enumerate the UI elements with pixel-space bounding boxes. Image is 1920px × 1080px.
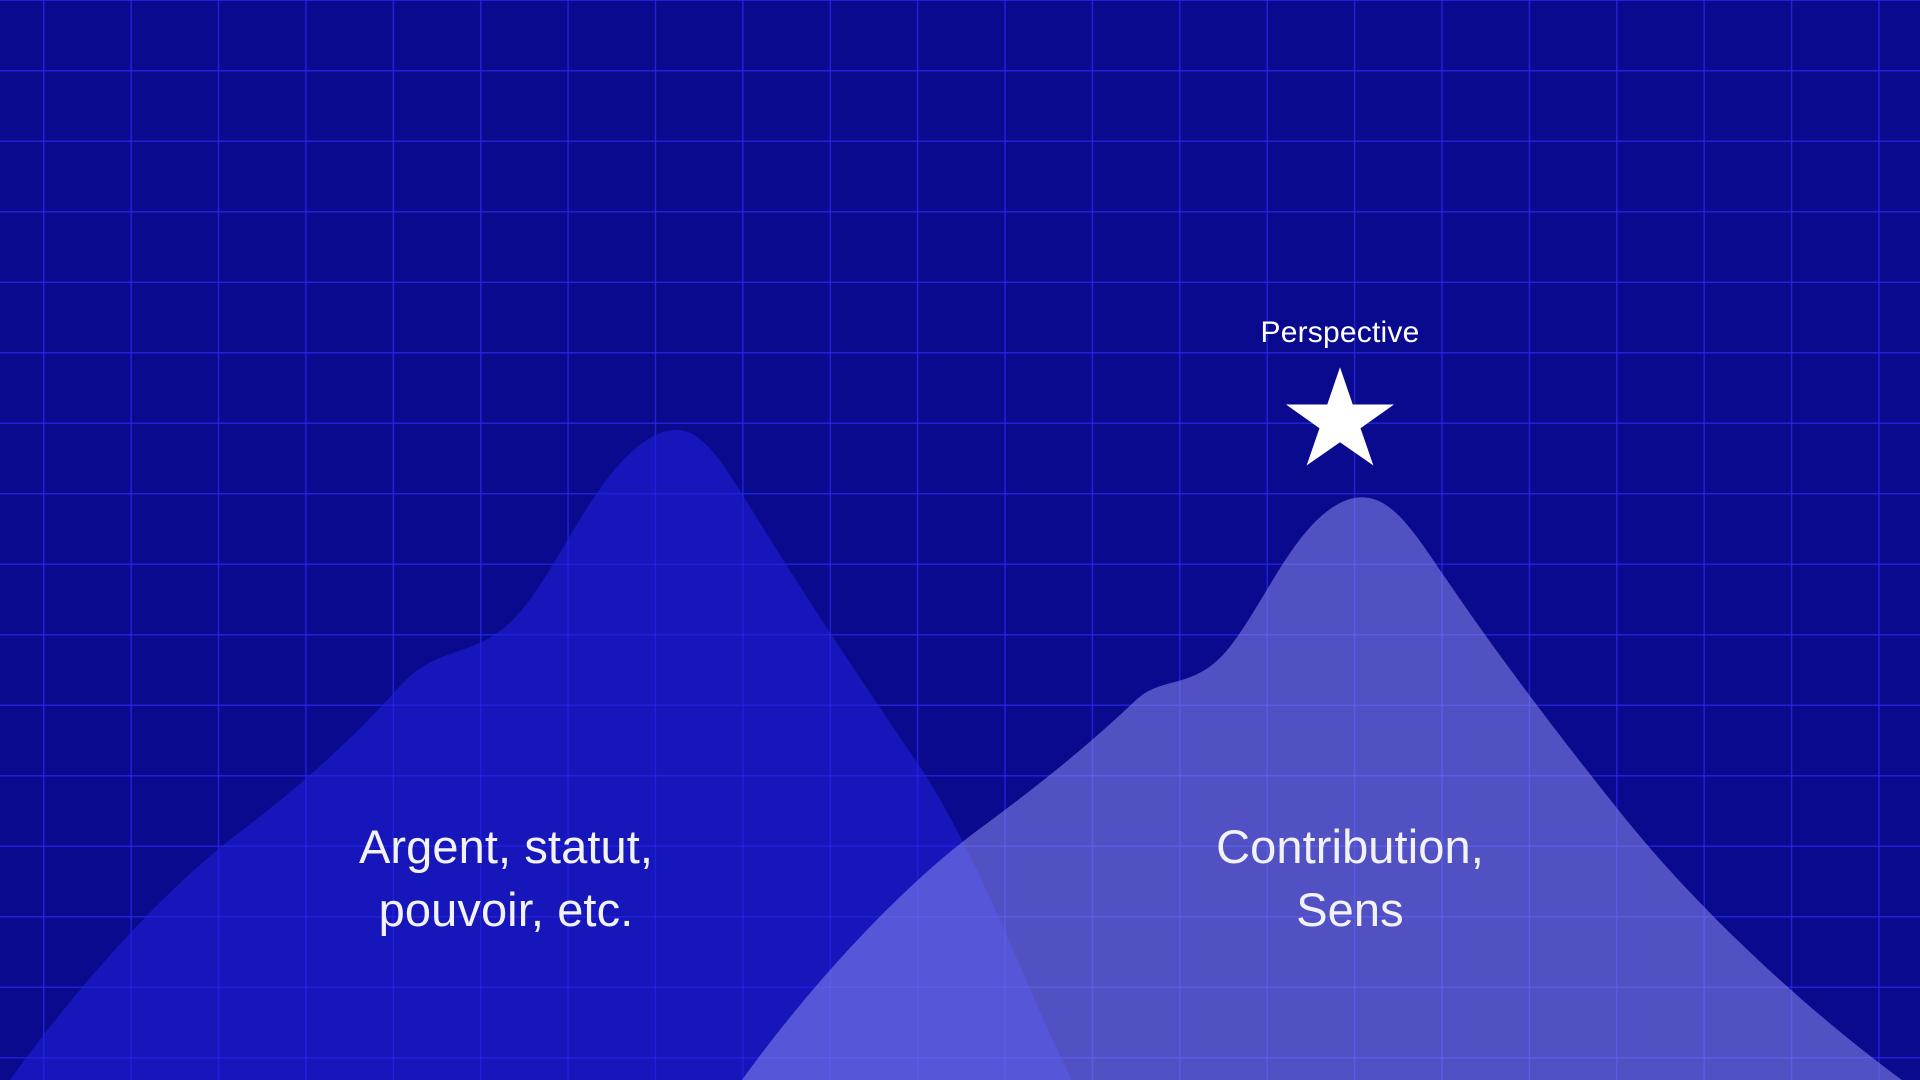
slide-canvas: Perspective Argent, statut, pouvoir, etc…	[0, 0, 1920, 1080]
peak-caption-label: Perspective	[1180, 318, 1500, 348]
left-peak-label: Argent, statut, pouvoir, etc.	[246, 816, 766, 941]
star-icon	[1286, 367, 1394, 470]
peak-marker-group: Perspective	[1180, 318, 1500, 470]
right-peak-label: Contribution, Sens	[1110, 816, 1590, 941]
